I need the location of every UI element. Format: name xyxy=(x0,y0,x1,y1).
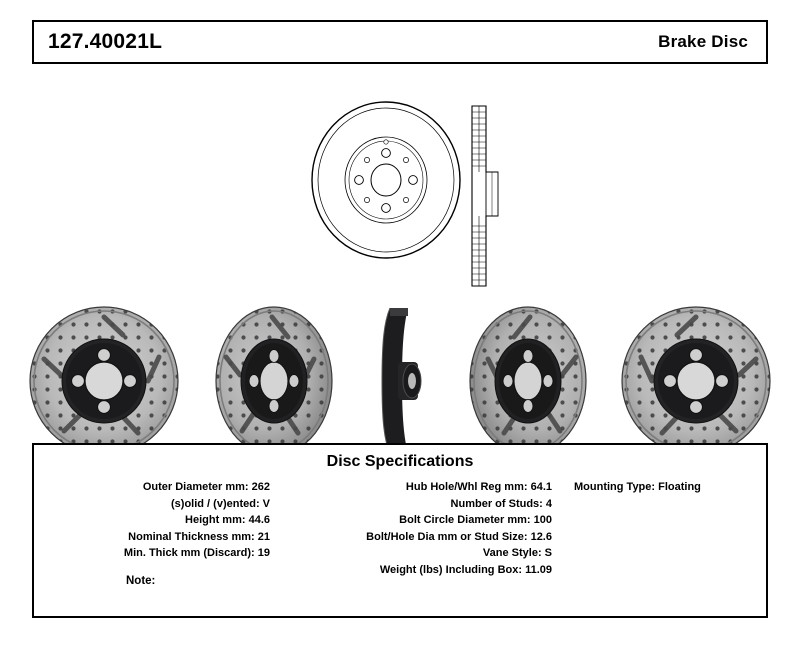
header-bar: 127.40021L Brake Disc xyxy=(32,20,768,64)
note-label: Note: xyxy=(126,575,155,587)
spec-row: Mounting Type: Floating xyxy=(574,479,764,496)
rotor-photo-angled-right xyxy=(452,305,604,457)
spec-row: Hub Hole/Whl Reg mm: 64.1 xyxy=(284,479,552,496)
disc-specifications-panel: Disc Specifications Outer Diameter mm: 2… xyxy=(32,443,768,618)
spec-row: Height mm: 44.6 xyxy=(52,512,270,529)
rotor-photo-edge-profile xyxy=(368,302,432,460)
figure-area xyxy=(0,70,800,440)
rotor-photo-face-left xyxy=(28,305,180,457)
spec-row: Weight (lbs) Including Box: 11.09 xyxy=(284,562,552,579)
spec-panel-title: Disc Specifications xyxy=(34,453,766,471)
spec-row: Bolt Circle Diameter mm: 100 xyxy=(284,512,552,529)
document-type-title: Brake Disc xyxy=(658,32,748,52)
spec-column-left: Outer Diameter mm: 262 (s)olid / (v)ente… xyxy=(52,479,270,562)
disc-face-drawing xyxy=(308,98,468,263)
spec-row: Nominal Thickness mm: 21 xyxy=(52,529,270,546)
spec-row: Min. Thick mm (Discard): 19 xyxy=(52,545,270,562)
spec-row: Number of Studs: 4 xyxy=(284,496,552,513)
part-number: 127.40021L xyxy=(48,30,162,54)
rotor-photo-face-right xyxy=(620,305,772,457)
spec-column-middle: Hub Hole/Whl Reg mm: 64.1 Number of Stud… xyxy=(284,479,552,578)
spec-row: Vane Style: S xyxy=(284,545,552,562)
spec-row: Outer Diameter mm: 262 xyxy=(52,479,270,496)
spec-row: (s)olid / (v)ented: V xyxy=(52,496,270,513)
spec-sheet: 127.40021L Brake Disc xyxy=(0,0,800,655)
disc-edge-drawing xyxy=(458,98,506,293)
spec-column-right: Mounting Type: Floating xyxy=(574,479,764,496)
spec-row: Bolt/Hole Dia mm or Stud Size: 12.6 xyxy=(284,529,552,546)
rotor-photo-angled-left xyxy=(198,305,350,457)
